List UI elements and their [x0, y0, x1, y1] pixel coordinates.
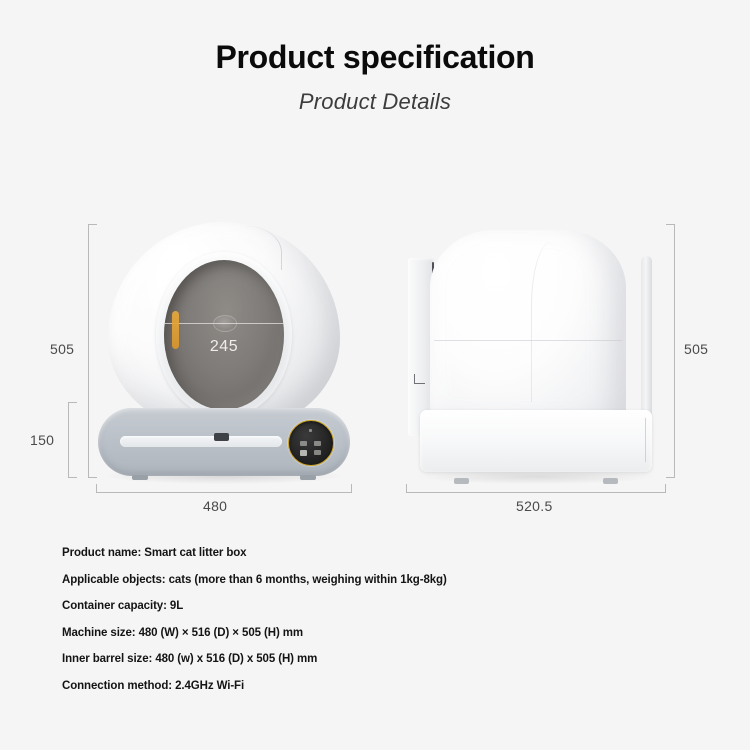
front-base-unit [98, 408, 350, 476]
spec-item-connection-method: Connection method: 2.4GHz Wi-Fi [62, 681, 682, 693]
side-view-illustration [408, 222, 664, 480]
panel-icon-a [300, 441, 307, 446]
front-width-label: 480 [203, 498, 227, 514]
control-panel-dial[interactable] [288, 420, 334, 466]
side-height-bracket [674, 224, 675, 478]
side-depth-label: 520.5 [516, 498, 553, 514]
spec-item-product-name: Product name: Smart cat litter box [62, 548, 682, 560]
side-drawer-edge [645, 418, 646, 462]
side-height-label: 505 [684, 341, 708, 357]
specification-list: Product name: Smart cat litter box Appli… [62, 548, 682, 707]
base-button[interactable] [214, 433, 229, 441]
panel-icon-c [300, 450, 307, 456]
front-height-label: 505 [50, 341, 74, 357]
side-body-shell [430, 230, 626, 436]
side-foot-right [603, 478, 618, 484]
side-foot-left [454, 478, 469, 484]
spec-item-applicable-objects: Applicable objects: cats (more than 6 mo… [62, 575, 682, 587]
front-height-bracket [88, 224, 89, 478]
spec-item-machine-size: Machine size: 480 (W) × 516 (D) × 505 (H… [62, 628, 682, 640]
panel-icon-d [314, 450, 321, 455]
spec-item-container-capacity: Container capacity: 9L [62, 601, 682, 613]
front-width-bracket [96, 492, 352, 493]
side-body-seam [434, 340, 622, 341]
side-fin [641, 256, 652, 424]
side-depth-bracket [406, 492, 666, 493]
opening-hub [213, 315, 237, 332]
front-view-illustration: 245 [98, 222, 350, 480]
front-foot-left [132, 475, 148, 480]
side-drawer-unit [420, 410, 652, 472]
front-base-height-label: 150 [30, 432, 54, 448]
panel-indicator-dot [309, 429, 312, 432]
side-body-crease [531, 242, 582, 402]
back-plate-bracket-mark [414, 374, 425, 384]
spec-item-inner-barrel-size: Inner barrel size: 480 (w) x 516 (D) x 5… [62, 654, 682, 666]
front-foot-right [300, 475, 316, 480]
opening-dimension-value: 245 [164, 338, 284, 356]
front-base-height-bracket [68, 402, 69, 478]
panel-icon-b [314, 441, 321, 446]
base-slot-groove [120, 436, 282, 447]
product-dimension-diagram: 245 505 150 480 [0, 0, 750, 540]
front-opening: 245 [164, 260, 284, 410]
